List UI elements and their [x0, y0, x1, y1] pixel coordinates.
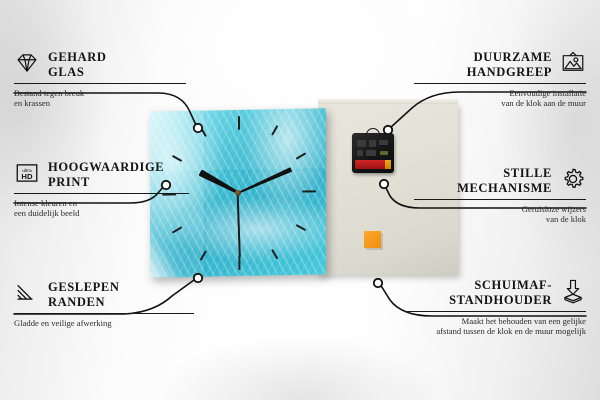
feature-title-line1: GEHARD: [48, 50, 186, 65]
feature-desc-line2: van de klok: [414, 214, 586, 225]
feature-gehard-glas: GEHARD GLAS Bestand tegen breuk en krass…: [14, 50, 186, 109]
connector-dot-5: [380, 180, 388, 188]
feature-title-line2: RANDEN: [48, 295, 194, 310]
feature-desc-line1: Intense kleuren en: [14, 198, 189, 209]
feature-rule: [414, 83, 586, 84]
infographic-canvas: GEHARD GLAS Bestand tegen breuk en krass…: [0, 0, 600, 400]
beveled-edge-icon: [14, 280, 40, 306]
feature-rule: [404, 311, 586, 312]
feature-title-line2: STANDHOUDER: [404, 293, 552, 308]
feature-geslepen-randen: GESLEPEN RANDEN Gladde en veilige afwerk…: [14, 280, 194, 328]
feature-desc-line1: Bestand tegen breuk: [14, 88, 186, 99]
feature-title-line1: GESLEPEN: [48, 280, 194, 295]
feature-desc-line1: Eenvoudige installatie: [414, 88, 586, 99]
feature-hoogwaardige-print: ultra HD HOOGWAARDIGE PRINT Intense kleu…: [14, 160, 189, 219]
feature-rule: [14, 313, 194, 314]
feature-schuimaf-standhouder: SCHUIMAF- STANDHOUDER Maakt het behouden…: [404, 278, 586, 337]
feature-title-line2: HANDGREEP: [414, 65, 552, 80]
feature-desc-line2: een duidelijk beeld: [14, 208, 189, 219]
press-down-pad-icon: [560, 278, 586, 304]
ultra-hd-icon: ultra HD: [14, 160, 40, 186]
feature-title-line1: SCHUIMAF-: [404, 278, 552, 293]
feature-title-line1: HOOGWAARDIGE: [48, 160, 189, 175]
feature-rule: [414, 199, 586, 200]
feature-title-line2: GLAS: [48, 65, 186, 80]
feature-desc-line1: Gladde en veilige afwerking: [14, 318, 194, 329]
feature-stille-mechanisme: STILLE MECHANISME Geruisloze wijzers van…: [414, 166, 586, 225]
feature-desc-line1: Maakt het behouden van een gelijke: [404, 316, 586, 327]
feature-title-line1: DUURZAME: [414, 50, 552, 65]
feature-desc-line2: van de klok aan de muur: [414, 98, 586, 109]
feature-rule: [14, 83, 186, 84]
connector-dot-6: [374, 279, 382, 287]
feature-title-line1: STILLE: [414, 166, 552, 181]
feature-rule: [14, 193, 189, 194]
hanging-picture-icon: [560, 50, 586, 76]
svg-text:HD: HD: [21, 172, 33, 181]
connector-dot-3: [194, 274, 202, 282]
feature-desc-line2: en krassen: [14, 98, 186, 109]
feature-desc-line2: afstand tussen de klok en de muur mogeli…: [404, 326, 586, 337]
feature-title-line2: MECHANISME: [414, 181, 552, 196]
feature-title-line2: PRINT: [48, 175, 189, 190]
feature-duurzame-handgreep: DUURZAME HANDGREEP Eenvoudige installati…: [414, 50, 586, 109]
feature-desc-line1: Geruisloze wijzers: [414, 204, 586, 215]
diamond-icon: [14, 50, 40, 76]
gear-icon: [560, 166, 586, 192]
connector-dot-4: [384, 126, 392, 134]
connector-dot-1: [194, 124, 202, 132]
